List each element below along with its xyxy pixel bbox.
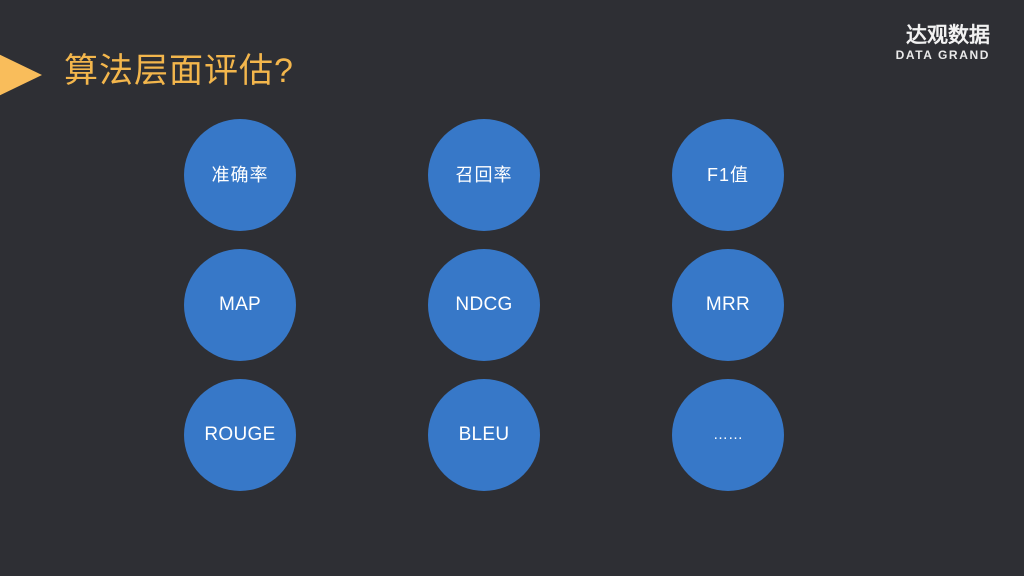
metric-label: MAP bbox=[219, 294, 261, 316]
metric-circle-bleu[interactable]: BLEU bbox=[428, 379, 540, 491]
metric-circle-ndcg[interactable]: NDCG bbox=[428, 249, 540, 361]
metric-label: 召回率 bbox=[456, 164, 513, 186]
metric-label: NDCG bbox=[455, 294, 512, 316]
metric-circle-rouge[interactable]: ROUGE bbox=[184, 379, 296, 491]
brand-logo-en: DATA GRAND bbox=[896, 48, 990, 63]
metric-label: 准确率 bbox=[212, 164, 269, 186]
metric-circle-grid: 准确率 召回率 F1值 MAP NDCG MRR ROUGE BLEU …… bbox=[184, 119, 840, 491]
triangle-right-icon bbox=[0, 48, 42, 102]
page-title: 算法层面评估? bbox=[64, 50, 294, 92]
metric-circle-mrr[interactable]: MRR bbox=[672, 249, 784, 361]
metric-label: MRR bbox=[706, 294, 750, 316]
metric-label: ROUGE bbox=[204, 424, 275, 446]
metric-circle-recall[interactable]: 召回率 bbox=[428, 119, 540, 231]
metric-label: BLEU bbox=[459, 424, 510, 446]
brand-logo: 达观数据 DATA GRAND bbox=[896, 24, 990, 63]
metric-circle-f1[interactable]: F1值 bbox=[672, 119, 784, 231]
slide-canvas: 算法层面评估? 达观数据 DATA GRAND 准确率 召回率 F1值 MAP … bbox=[0, 0, 1024, 576]
metric-circle-precision[interactable]: 准确率 bbox=[184, 119, 296, 231]
metric-label: …… bbox=[713, 424, 743, 446]
brand-logo-cn: 达观数据 bbox=[896, 24, 990, 47]
metric-circle-map[interactable]: MAP bbox=[184, 249, 296, 361]
metric-circle-more[interactable]: …… bbox=[672, 379, 784, 491]
metric-label: F1值 bbox=[707, 164, 749, 186]
